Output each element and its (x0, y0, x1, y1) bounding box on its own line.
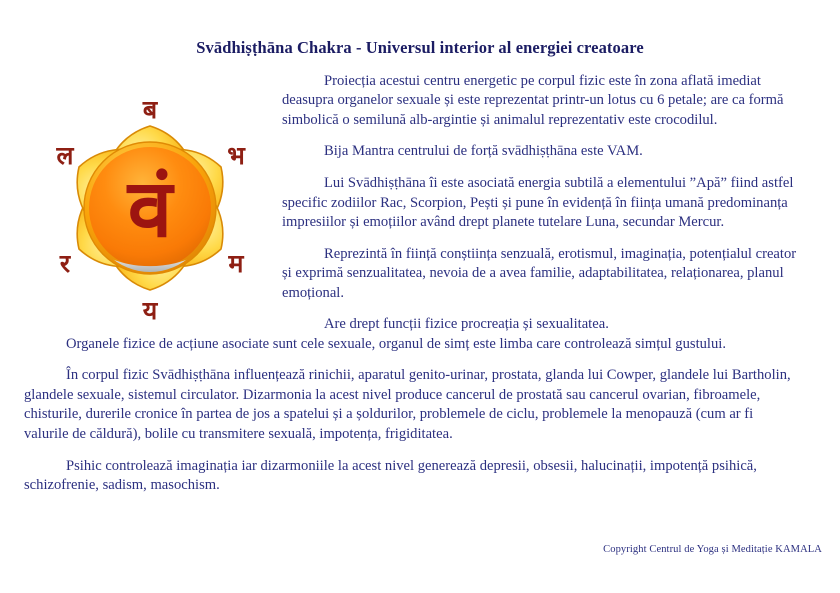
bija-mantra-glyph: वं (126, 162, 175, 255)
petal-letter-upper-right: भ (227, 141, 246, 170)
petal-letter-bottom: य (142, 296, 159, 325)
petal-letter-upper-left: ल (56, 141, 75, 170)
petal-letter-lower-left: र (59, 249, 72, 278)
paragraph-psychic: Psihic controlează imaginația iar dizarm… (24, 457, 800, 496)
full-width-content: Organele fizice de acțiune asociate sunt… (0, 335, 840, 496)
petal-letter-top: ब (142, 95, 159, 124)
paragraph-organs: Organele fizice de acțiune asociate sunt… (24, 335, 800, 355)
paragraph-physical-body: În corpul fizic Svādhiṣṭhāna influențeaz… (24, 366, 800, 444)
svadhisthana-chakra-image: ब भ म य र ल वं (32, 76, 268, 328)
document-page: Svādhiṣṭhāna Chakra - Universul interior… (0, 0, 840, 593)
footer-copyright: Copyright Centrul de Yoga și Meditație K… (0, 544, 840, 555)
chakra-lotus-icon: ब भ म य र ल वं (32, 76, 268, 328)
petal-letter-lower-right: म (228, 249, 245, 278)
main-content: ब भ म य र ल वं Proiecția acestui centru (0, 72, 840, 335)
page-title: Svādhiṣṭhāna Chakra - Universul interior… (0, 0, 840, 58)
